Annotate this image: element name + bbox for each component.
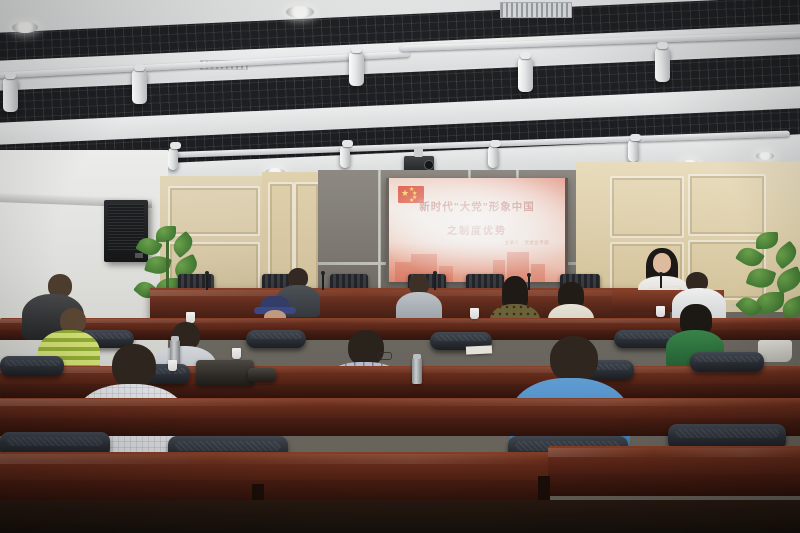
paper-cup — [470, 308, 479, 319]
presenter-microphone — [660, 275, 662, 288]
floor — [0, 500, 800, 533]
small-pouch — [248, 368, 276, 382]
chair-back — [246, 330, 306, 348]
table-microphone — [322, 274, 324, 290]
paper-cup — [168, 360, 177, 371]
track-spotlight — [518, 58, 533, 92]
paper-cup — [232, 348, 241, 359]
conference-room-photo: ★ ★ ★ ★ ★ 新时代"大党"形象中国 之制度优势 主讲人 · 党委宣传部 — [0, 0, 800, 533]
recessed-downlight — [286, 6, 314, 18]
thermos-bottle — [412, 358, 422, 384]
chair-back — [690, 352, 764, 372]
handout-papers — [466, 345, 492, 354]
air-vent — [500, 2, 572, 18]
track-spotlight — [488, 146, 498, 168]
chair-back — [0, 356, 64, 376]
recessed-downlight — [12, 22, 38, 33]
table-microphone — [206, 274, 208, 290]
track-spotlight — [349, 52, 364, 86]
projector-mount — [414, 147, 423, 157]
projector-glare — [389, 178, 565, 282]
potted-plant-right — [738, 232, 800, 362]
track-spotlight — [655, 48, 670, 82]
track-spotlight — [3, 78, 18, 112]
projection-screen: ★ ★ ★ ★ ★ 新时代"大党"形象中国 之制度优势 主讲人 · 党委宣传部 — [386, 178, 568, 282]
paper-cup — [656, 306, 665, 317]
projector-lens — [424, 160, 434, 170]
track-spotlight — [340, 146, 350, 168]
track-spotlight — [132, 70, 147, 104]
shoulder-bag — [196, 360, 254, 386]
recessed-downlight — [756, 152, 774, 160]
track-spotlight — [168, 148, 178, 170]
track-spotlight — [628, 140, 638, 162]
attendee-grey-shirt — [396, 274, 442, 324]
